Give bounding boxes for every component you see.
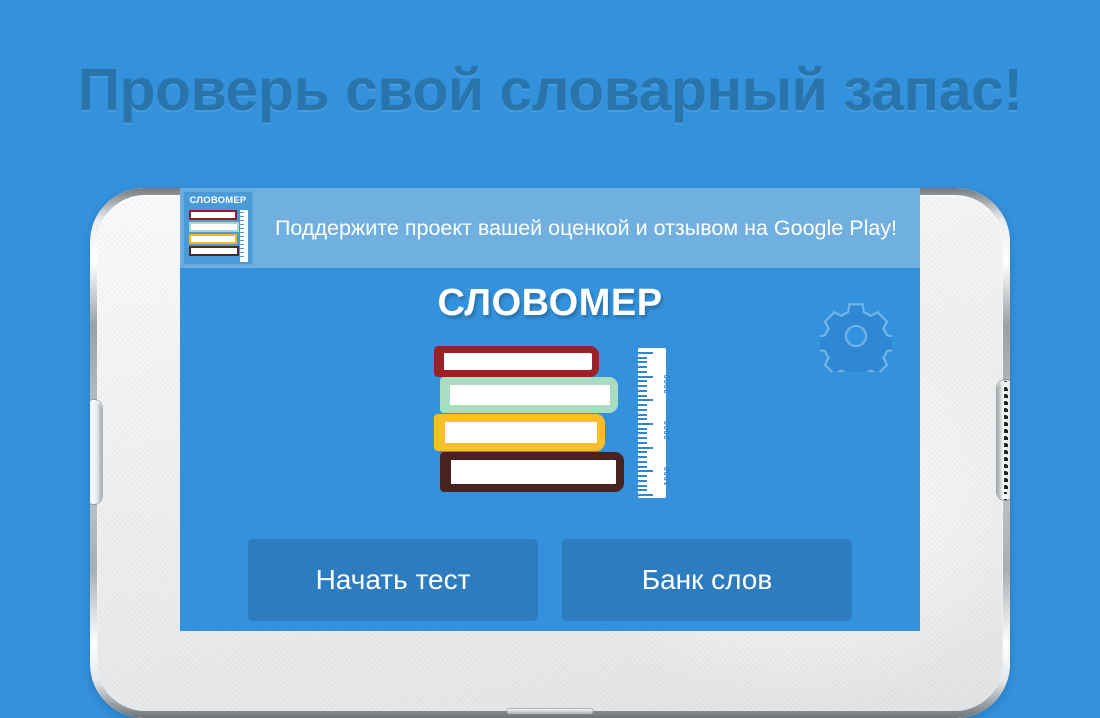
action-button-row: Начать тест Банк слов (180, 539, 920, 621)
ad-banner[interactable]: СЛОВОМЕР Поддержите проект вашей оценкой… (180, 188, 920, 268)
power-button-texture (1004, 388, 1008, 492)
app-icon-book-green (189, 222, 239, 232)
ruler-label-2000: 2000 (663, 420, 672, 440)
app-icon-book-red (189, 210, 237, 220)
phone-screen: СЛОВОМЕР Поддержите проект вашей оценкой… (180, 188, 920, 631)
power-button[interactable] (997, 380, 1010, 500)
ruler-label-1000: 1000 (663, 466, 672, 486)
volume-rocker-button[interactable] (90, 400, 102, 504)
app-icon-ruler (240, 210, 248, 262)
word-bank-button[interactable]: Банк слов (562, 539, 852, 621)
book-yellow (434, 414, 605, 451)
book-red (434, 346, 599, 377)
app-icon: СЛОВОМЕР (182, 190, 254, 266)
app-icon-book-yellow (189, 234, 237, 244)
app-icon-book-brown (189, 246, 239, 256)
vocabulary-ruler: 3000 2000 1000 (638, 348, 666, 498)
books-illustration: 3000 2000 1000 (180, 346, 920, 504)
bottom-speaker-slot (507, 709, 593, 714)
book-green (440, 377, 618, 413)
app-icon-books (189, 210, 237, 262)
ruler-label-3000: 3000 (663, 374, 672, 394)
page-headline: Проверь свой словарный запас! (0, 56, 1100, 124)
ad-banner-text: Поддержите проект вашей оценкой и отзыво… (254, 216, 920, 241)
phone-device: СЛОВОМЕР Поддержите проект вашей оценкой… (90, 188, 1010, 718)
app-icon-label: СЛОВОМЕР (184, 195, 252, 206)
book-brown (440, 452, 624, 492)
app-title: СЛОВОМЕР (180, 282, 920, 325)
start-test-button[interactable]: Начать тест (248, 539, 538, 621)
ruler-ticks (638, 352, 666, 494)
